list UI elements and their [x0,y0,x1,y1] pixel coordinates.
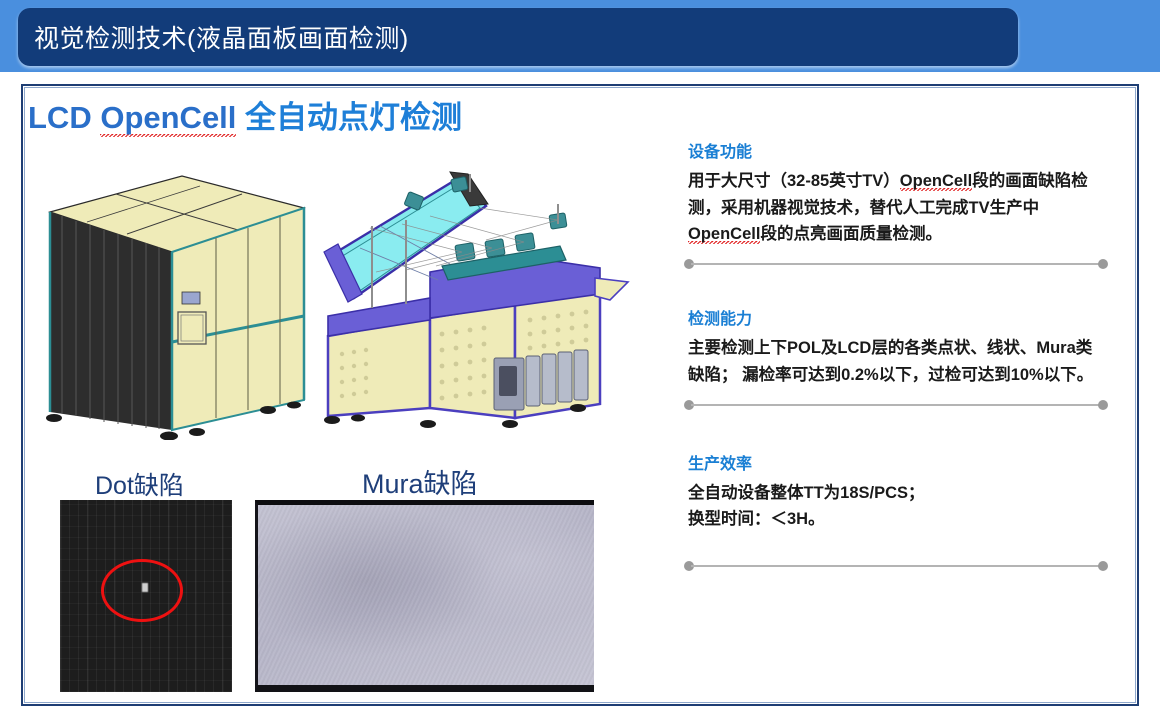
divider-line [691,404,1101,406]
mura-defect-image [255,500,594,692]
dot-defect-label: Dot缺陷 [95,466,184,502]
info-body-line2: 换型时间：＜3H。 [688,506,1108,533]
divider-knob-right [1098,561,1108,571]
info-block-production-efficiency: 生产效率 全自动设备整体TT为18S/PCS； 换型时间：＜3H。 [684,450,1108,571]
info-heading: 检测能力 [688,305,1108,329]
mura-panel-texture [258,505,594,685]
dot-defect-image [60,500,232,692]
lightbox-cabinet-illustration [32,160,322,440]
header-title-plate: 视觉检测技术(液晶面板画面检测) [18,8,1018,66]
mura-defect-label: Mura缺陷 [362,462,478,501]
dot-defect-marker-ellipse [101,559,183,622]
info-heading: 生产效率 [688,450,1108,474]
info-body: 主要检测上下POL及LCD层的各类点状、线状、Mura类缺陷； 漏检率可达到0.… [688,335,1108,388]
info-block-detection-capability: 检测能力 主要检测上下POL及LCD层的各类点状、线状、Mura类缺陷； 漏检率… [684,305,1108,409]
info-body-line1: 全自动设备整体TT为18S/PCS； [688,480,1108,507]
info-body: 用于大尺寸（32-85英寸TV）OpenCell段的画面缺陷检测，采用机器视觉技… [688,168,1108,248]
info-column: 设备功能 用于大尺寸（32-85英寸TV）OpenCell段的画面缺陷检测，采用… [684,138,1108,571]
slide-title-en: LCD OpenCell [28,100,236,137]
section-divider [684,561,1108,571]
slide-title-zh: 全自动点灯检测 [236,100,462,135]
inspection-station-illustration [310,168,635,433]
section-divider [684,400,1108,410]
info-block-equipment-function: 设备功能 用于大尺寸（32-85英寸TV）OpenCell段的画面缺陷检测，采用… [684,138,1108,269]
section-divider [684,259,1108,269]
divider-knob-right [1098,400,1108,410]
divider-line [691,263,1101,265]
slide-title-opencell: OpenCell [100,100,236,137]
page-title: 视觉检测技术(液晶面板画面检测) [18,19,409,55]
divider-line [691,565,1101,567]
slide-title: LCD OpenCell 全自动点灯检测 [28,92,462,137]
divider-knob-right [1098,259,1108,269]
info-heading: 设备功能 [688,138,1108,162]
